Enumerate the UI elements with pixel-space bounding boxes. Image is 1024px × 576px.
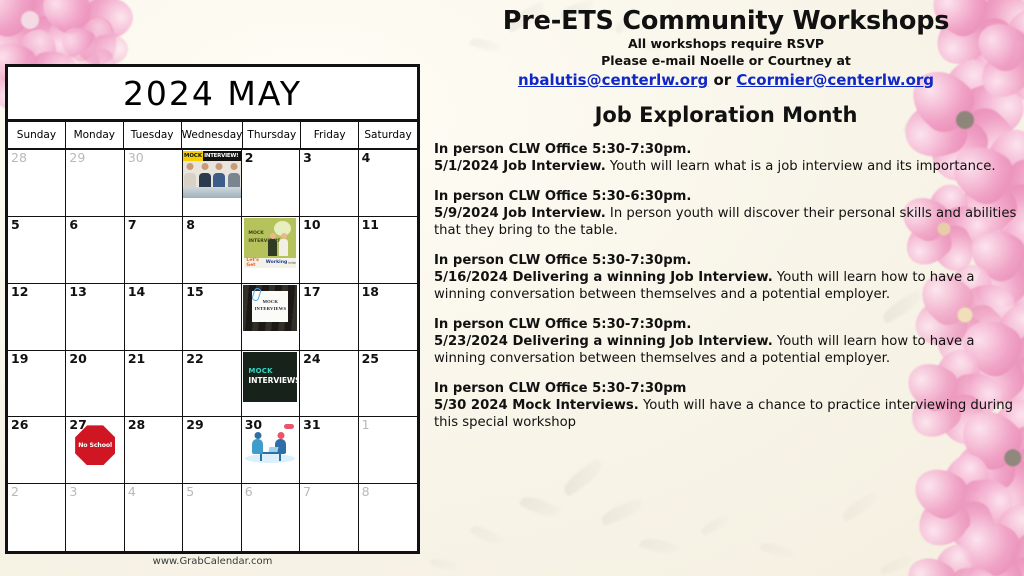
event-entry: In person CLW Office 5:30-7:30pm.5/23/20…	[434, 316, 1019, 367]
calendar-day-number: 12	[11, 285, 28, 298]
calendar-day-number: 6	[245, 485, 253, 498]
calendar: 2024 MAY SundayMondayTuesdayWednesdayThu…	[5, 64, 420, 554]
page-title: Pre-ETS Community Workshops	[428, 6, 1024, 36]
calendar-day-number: 18	[362, 285, 379, 298]
calendar-day-cell[interactable]: 2	[8, 484, 66, 551]
calendar-day-cell[interactable]: 14	[125, 284, 183, 351]
calendar-day-number: 3	[69, 485, 77, 498]
calendar-day-cell[interactable]: 1	[359, 417, 417, 484]
calendar-weekday-header: SundayMondayTuesdayWednesdayThursdayFrid…	[8, 122, 417, 150]
calendar-day-cell[interactable]: 26	[8, 417, 66, 484]
calendar-day-cell[interactable]: 8	[183, 217, 241, 284]
calendar-day-cell[interactable]: 11	[359, 217, 417, 284]
email-link-nbalutis[interactable]: nbalutis@centerlw.org	[518, 71, 708, 89]
no-school-stop-sign-icon: No School	[75, 425, 115, 465]
rsvp-line-2: Please e-mail Noelle or Courtney at	[428, 53, 1024, 70]
email-links: nbalutis@centerlw.org or Ccormier@center…	[428, 71, 1024, 89]
event-detail: 5/1/2024 Job Interview. Youth will learn…	[434, 158, 1019, 175]
event-location: In person CLW Office 5:30-7:30pm.	[434, 316, 1019, 333]
calendar-day-cell[interactable]: 25	[359, 351, 417, 418]
calendar-day-number: 15	[186, 285, 203, 298]
calendar-day-number: 8	[362, 485, 370, 498]
calendar-day-cell[interactable]: 29	[66, 150, 124, 217]
event-entry: In person CLW Office 5:30-6:30pm.5/9/202…	[434, 188, 1019, 239]
calendar-day-cell[interactable]: 7	[300, 484, 358, 551]
event-location: In person CLW Office 5:30-6:30pm.	[434, 188, 1019, 205]
calendar-day-cell[interactable]: 28	[125, 417, 183, 484]
calendar-weekday-saturday: Saturday	[359, 122, 417, 148]
calendar-day-cell[interactable]: 4	[125, 484, 183, 551]
email-link-ccormier[interactable]: Ccormier@centerlw.org	[736, 71, 934, 89]
mock-interview-photo: MOCKINTERVIEW!	[183, 151, 241, 198]
calendar-day-cell[interactable]: 12	[8, 284, 66, 351]
calendar-day-number: 11	[362, 218, 379, 231]
calendar-day-cell[interactable]: 31	[300, 417, 358, 484]
calendar-day-cell[interactable]: 15	[183, 284, 241, 351]
calendar-day-number: 20	[69, 352, 86, 365]
event-heading: 5/16/2024 Delivering a winning Job Inter…	[434, 270, 773, 285]
calendar-grid: 2829301MOCKINTERVIEW!23456789MOCKINTERVI…	[8, 150, 417, 551]
calendar-title: 2024 MAY	[8, 67, 417, 122]
calendar-day-cell[interactable]: 8	[359, 484, 417, 551]
calendar-day-number: 24	[303, 352, 320, 365]
event-heading: 5/9/2024 Job Interview.	[434, 206, 606, 221]
event-entry: In person CLW Office 5:30-7:30pm5/30 202…	[434, 380, 1019, 431]
flyer-content: Pre-ETS Community Workshops All workshop…	[428, 0, 1024, 576]
calendar-day-number: 22	[186, 352, 203, 365]
event-list: In person CLW Office 5:30-7:30pm.5/1/202…	[434, 141, 1019, 431]
calendar-day-cell[interactable]: 23MOCKINTERVIEWS	[242, 351, 300, 418]
calendar-day-number: 29	[69, 151, 85, 164]
calendar-footer: www.GrabCalendar.com	[5, 556, 420, 567]
calendar-day-cell[interactable]: 28	[8, 150, 66, 217]
calendar-weekday-tuesday: Tuesday	[124, 122, 182, 148]
calendar-day-cell[interactable]: 2	[242, 150, 300, 217]
calendar-weekday-wednesday: Wednesday	[182, 122, 244, 148]
event-detail: 5/30 2024 Mock Interviews. Youth will ha…	[434, 397, 1019, 431]
calendar-day-cell[interactable]: 4	[359, 150, 417, 217]
event-entry: In person CLW Office 5:30-7:30pm.5/1/202…	[434, 141, 1019, 175]
calendar-day-number: 8	[186, 218, 195, 231]
calendar-day-cell[interactable]: 6	[242, 484, 300, 551]
calendar-day-number: 4	[128, 485, 136, 498]
interview-illustration	[243, 423, 297, 465]
calendar-day-cell[interactable]: 6	[66, 217, 124, 284]
calendar-day-number: 21	[128, 352, 145, 365]
event-detail: 5/23/2024 Delivering a winning Job Inter…	[434, 333, 1019, 367]
calendar-day-cell[interactable]: 13	[66, 284, 124, 351]
event-heading: 5/1/2024 Job Interview.	[434, 159, 606, 174]
event-location: In person CLW Office 5:30-7:30pm.	[434, 141, 1019, 158]
calendar-day-cell[interactable]: 18	[359, 284, 417, 351]
calendar-day-number: 6	[69, 218, 78, 231]
event-location: In person CLW Office 5:30-7:30pm	[434, 380, 1019, 397]
event-entry: In person CLW Office 5:30-7:30pm.5/16/20…	[434, 252, 1019, 303]
event-detail: 5/16/2024 Delivering a winning Job Inter…	[434, 269, 1019, 303]
calendar-day-number: 30	[128, 151, 144, 164]
calendar-day-cell[interactable]: 27No School	[66, 417, 124, 484]
event-heading: 5/30 2024 Mock Interviews.	[434, 398, 639, 413]
calendar-day-cell[interactable]: 19	[8, 351, 66, 418]
calendar-day-number: 31	[303, 418, 320, 431]
calendar-day-cell[interactable]: 10	[300, 217, 358, 284]
calendar-day-cell[interactable]: 29	[183, 417, 241, 484]
rsvp-line-1: All workshops require RSVP	[428, 36, 1024, 53]
calendar-day-number: 19	[11, 352, 28, 365]
calendar-day-number: 7	[303, 485, 311, 498]
calendar-day-cell[interactable]: 1MOCKINTERVIEW!	[183, 150, 241, 217]
calendar-day-cell[interactable]: 30	[242, 417, 300, 484]
calendar-day-cell[interactable]: 17	[300, 284, 358, 351]
calendar-weekday-thursday: Thursday	[243, 122, 301, 148]
mock-interviews-dark-graphic: MOCKINTERVIEWS	[243, 352, 297, 402]
calendar-day-number: 28	[128, 418, 145, 431]
calendar-day-number: 7	[128, 218, 137, 231]
calendar-day-number: 17	[303, 285, 320, 298]
calendar-day-number: 5	[11, 218, 20, 231]
calendar-day-number: 25	[362, 352, 379, 365]
calendar-day-number: 14	[128, 285, 145, 298]
calendar-day-number: 29	[186, 418, 203, 431]
calendar-day-cell[interactable]: 7	[125, 217, 183, 284]
calendar-day-number: 2	[245, 151, 254, 164]
calendar-day-number: 10	[303, 218, 320, 231]
calendar-day-cell[interactable]: 22	[183, 351, 241, 418]
calendar-day-cell[interactable]: 21	[125, 351, 183, 418]
calendar-weekday-sunday: Sunday	[8, 122, 66, 148]
event-heading: 5/23/2024 Delivering a winning Job Inter…	[434, 334, 773, 349]
calendar-day-cell[interactable]: 5	[183, 484, 241, 551]
calendar-day-cell[interactable]: 5	[8, 217, 66, 284]
event-detail: 5/9/2024 Job Interview. In person youth …	[434, 205, 1019, 239]
calendar-weekday-monday: Monday	[66, 122, 124, 148]
calendar-day-cell[interactable]: 9MOCKINTERVIEWSLet's GetWorkingbetter	[242, 217, 300, 284]
mock-interviews-card-photo: MOCKINTERVIEWS	[243, 285, 297, 331]
calendar-day-number: 3	[303, 151, 312, 164]
calendar-day-number: 26	[11, 418, 28, 431]
calendar-day-number: 1	[362, 418, 370, 431]
email-separator: or	[708, 71, 736, 89]
calendar-day-number: 28	[11, 151, 27, 164]
calendar-weekday-friday: Friday	[301, 122, 359, 148]
calendar-day-cell[interactable]: 3	[300, 150, 358, 217]
event-description: Youth will learn what is a job interview…	[606, 159, 996, 174]
flyer-subtitle: Job Exploration Month	[428, 103, 1024, 127]
calendar-day-number: 13	[69, 285, 86, 298]
lets-get-working-graphic: MOCKINTERVIEWSLet's GetWorkingbetter	[244, 218, 296, 268]
calendar-day-cell[interactable]: 16MOCKINTERVIEWS	[242, 284, 300, 351]
calendar-day-cell[interactable]: 20	[66, 351, 124, 418]
calendar-day-number: 2	[11, 485, 19, 498]
calendar-day-cell[interactable]: 24	[300, 351, 358, 418]
calendar-day-number: 4	[362, 151, 371, 164]
calendar-day-cell[interactable]: 30	[125, 150, 183, 217]
calendar-day-cell[interactable]: 3	[66, 484, 124, 551]
event-location: In person CLW Office 5:30-7:30pm.	[434, 252, 1019, 269]
calendar-day-number: 5	[186, 485, 194, 498]
